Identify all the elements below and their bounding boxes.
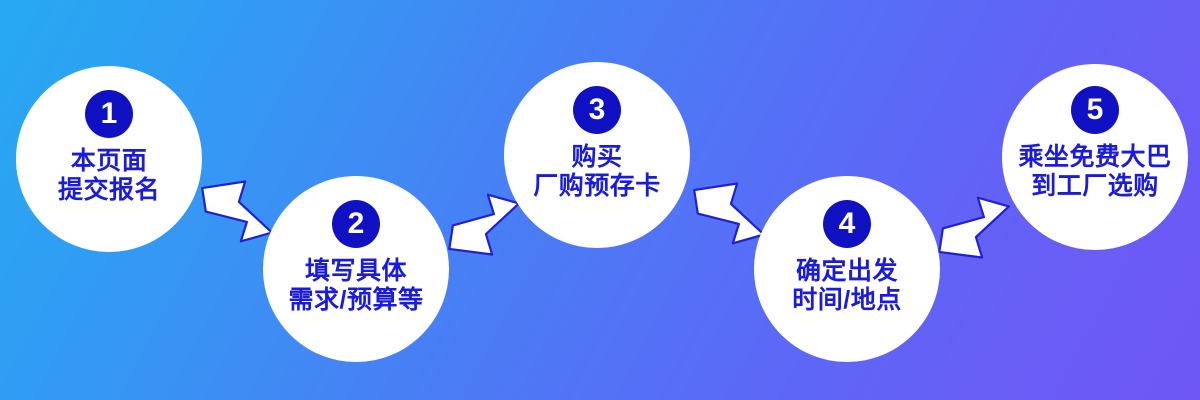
step-number-badge-3: 3 [573,86,621,134]
flow-step-2[interactable]: 2 填写具体 需求/预算等 [263,176,449,362]
flow-step-5[interactable]: 5 乘坐免费大巴 到工厂选购 [1002,64,1188,250]
step-number-badge-5: 5 [1071,86,1119,134]
flow-step-4[interactable]: 4 确定出发 时间/地点 [754,176,940,362]
step-label-4-line1: 确定出发 [792,257,901,286]
flow-step-3[interactable]: 3 购买 厂购预存卡 [504,62,690,248]
step-label-3-line1: 购买 [533,143,661,172]
arrow-shape [934,195,1014,262]
step-label-4-line2: 时间/地点 [792,286,901,315]
step-label-2-line1: 填写具体 [289,257,424,286]
step-label-5-line1: 乘坐免费大巴 [1018,143,1171,172]
process-flow-diagram: 1 本页面 提交报名 2 填写具体 需求/预算等 3 购买 厂购预存卡 [0,0,1200,400]
step-number-badge-4: 4 [823,200,871,248]
step-label-3: 购买 厂购预存卡 [533,143,661,201]
arrow-shape [197,177,277,244]
step-number-badge-1: 1 [85,90,133,138]
step-label-4: 确定出发 时间/地点 [792,257,901,315]
step-label-5: 乘坐免费大巴 到工厂选购 [1018,143,1171,201]
arrow-shape [444,192,524,259]
step-number-badge-2: 2 [332,200,380,248]
step-label-3-line2: 厂购预存卡 [533,172,661,201]
connector-arrow-4-to-5 [933,188,1019,260]
step-label-2-line2: 需求/预算等 [289,286,424,315]
step-label-1-line2: 提交报名 [58,176,160,205]
flow-step-1[interactable]: 1 本页面 提交报名 [16,66,202,252]
step-label-5-line2: 到工厂选购 [1018,172,1171,201]
arrow-shape [689,179,769,246]
step-label-1: 本页面 提交报名 [58,147,160,205]
step-label-2: 填写具体 需求/预算等 [289,257,424,315]
step-label-1-line1: 本页面 [58,147,160,176]
